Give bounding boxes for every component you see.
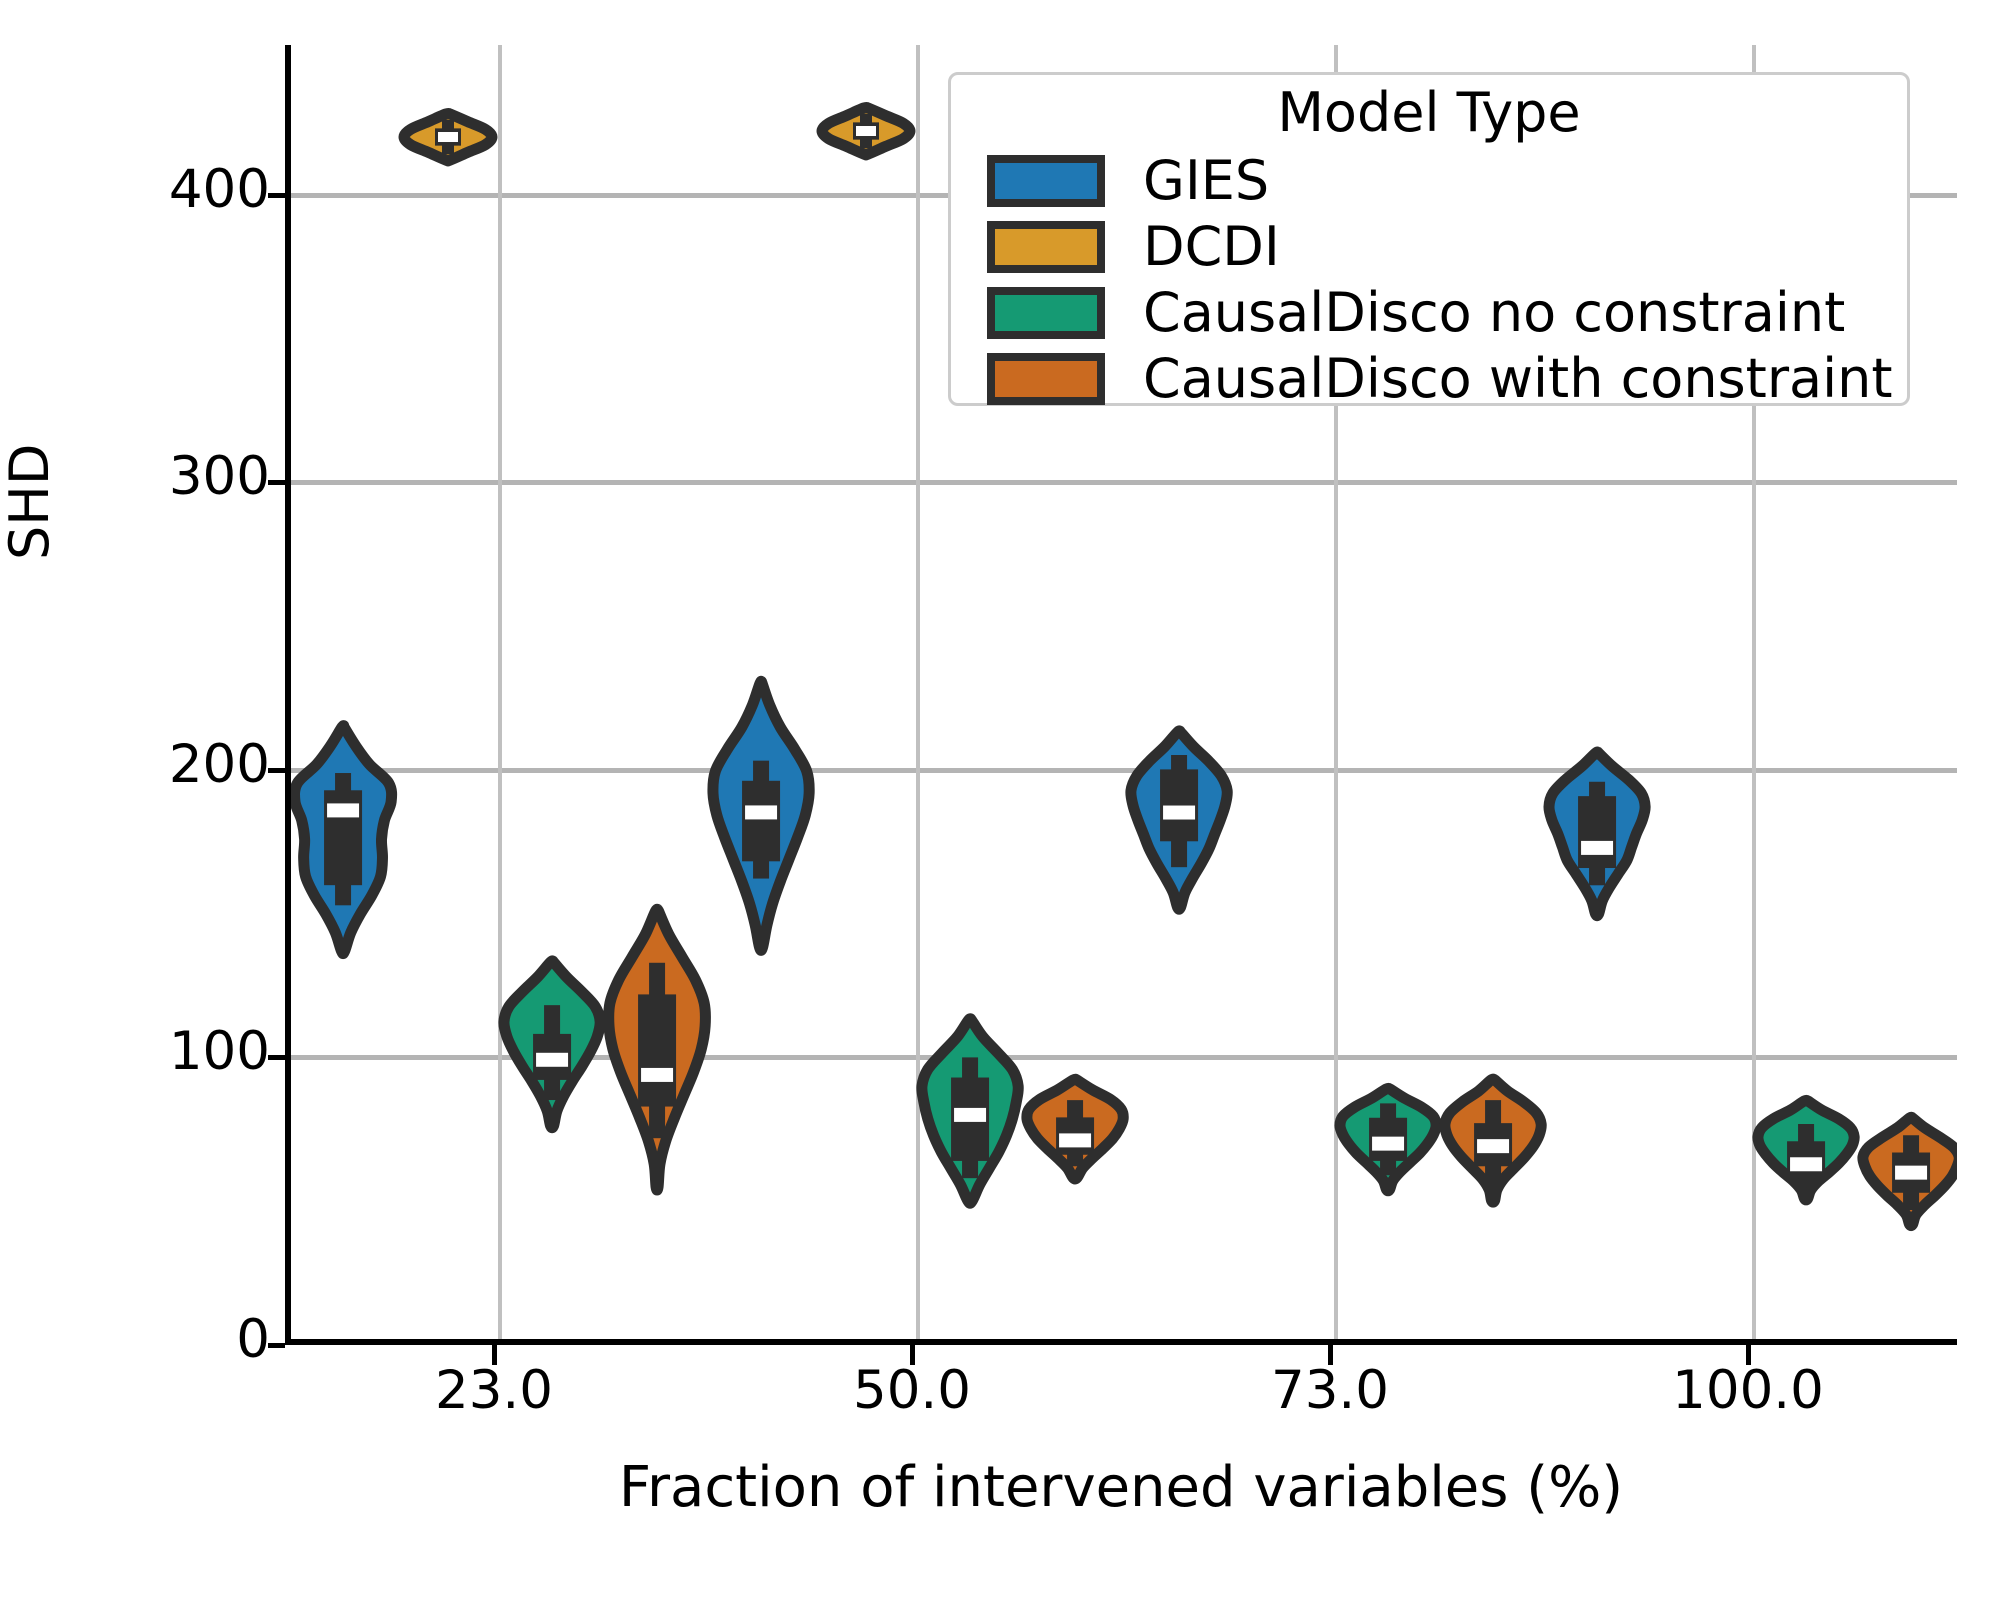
legend-entry[interactable]: DCDI bbox=[987, 219, 1280, 275]
boxplot-median-marker bbox=[327, 803, 359, 817]
y-tick-mark bbox=[268, 768, 285, 773]
boxplot-iqr-box bbox=[1160, 770, 1198, 842]
legend-entry[interactable]: CausalDisco no constraint bbox=[987, 285, 1845, 341]
violin-gies-73-0 bbox=[1115, 716, 1243, 923]
boxplot-iqr-box bbox=[1578, 796, 1616, 868]
boxplot-median-marker bbox=[1790, 1157, 1822, 1171]
boxplot-median-marker bbox=[856, 126, 876, 136]
boxplot-median-marker bbox=[1581, 840, 1613, 854]
y-tick-label: 100 bbox=[0, 1021, 296, 1082]
boxplot-median-marker bbox=[954, 1108, 986, 1122]
x-tick-mark bbox=[910, 1345, 915, 1365]
boxplot-iqr-box bbox=[638, 994, 676, 1106]
legend-entry[interactable]: CausalDisco with constraint bbox=[987, 351, 1893, 407]
boxplot-median-marker bbox=[1163, 806, 1195, 820]
violin-dcdi-23-0 bbox=[388, 98, 508, 176]
violin-causaldisco-with-constraint-100-0 bbox=[1847, 1102, 1957, 1240]
violin-gies-23-0 bbox=[291, 711, 407, 967]
gridline-vertical bbox=[498, 45, 502, 1339]
y-tick-label: 200 bbox=[0, 734, 296, 795]
legend-title: Model Type bbox=[951, 81, 1907, 144]
x-tick-mark bbox=[1746, 1345, 1751, 1365]
y-tick-mark bbox=[268, 1055, 285, 1060]
x-tick-label: 100.0 bbox=[1618, 1360, 1878, 1421]
figure-root: { "figure": { "ylabel": "SHD", "xlabel":… bbox=[0, 0, 2000, 1600]
legend-entry[interactable]: GIES bbox=[987, 153, 1269, 209]
violin-causaldisco-with-constraint-73-0 bbox=[1429, 1064, 1557, 1217]
y-tick-mark bbox=[268, 1343, 285, 1348]
violin-causaldisco-with-constraint-23-0 bbox=[593, 895, 721, 1203]
x-tick-label: 50.0 bbox=[782, 1360, 1042, 1421]
legend-swatch-icon bbox=[987, 287, 1105, 339]
x-tick-mark bbox=[1328, 1345, 1333, 1365]
x-tick-label: 73.0 bbox=[1200, 1360, 1460, 1421]
x-tick-label: 23.0 bbox=[364, 1360, 624, 1421]
boxplot-median-marker bbox=[745, 806, 777, 820]
boxplot-median-marker bbox=[1372, 1137, 1404, 1151]
violin-gies-100-0 bbox=[1533, 737, 1661, 930]
boxplot-median-marker bbox=[438, 132, 458, 142]
gridline-horizontal bbox=[291, 480, 1957, 485]
x-axis-label: Fraction of intervened variables (%) bbox=[285, 1455, 1957, 1520]
boxplot-iqr-box bbox=[742, 781, 780, 862]
y-tick-label: 300 bbox=[0, 446, 296, 507]
legend-entry-label: CausalDisco no constraint bbox=[1143, 286, 1845, 340]
violin-dcdi-50-0 bbox=[806, 92, 926, 170]
y-tick-label: 0 bbox=[0, 1309, 296, 1370]
legend-entry-label: CausalDisco with constraint bbox=[1143, 352, 1893, 406]
boxplot-median-marker bbox=[1059, 1134, 1091, 1148]
legend: Model Type GIESDCDICausalDisco no constr… bbox=[948, 72, 1910, 406]
y-tick-mark bbox=[268, 193, 285, 198]
violin-causaldisco-with-constraint-50-0 bbox=[1011, 1064, 1139, 1194]
legend-swatch-icon bbox=[987, 221, 1105, 273]
legend-entry-label: GIES bbox=[1143, 154, 1269, 208]
y-tick-mark bbox=[268, 480, 285, 485]
legend-entry-label: DCDI bbox=[1143, 220, 1280, 274]
boxplot-median-marker bbox=[1477, 1140, 1509, 1154]
legend-swatch-icon bbox=[987, 353, 1105, 405]
boxplot-median-marker bbox=[1895, 1165, 1927, 1179]
boxplot-median-marker bbox=[641, 1068, 673, 1082]
y-tick-label: 400 bbox=[0, 159, 296, 220]
legend-swatch-icon bbox=[987, 155, 1105, 207]
boxplot-median-marker bbox=[536, 1053, 568, 1067]
x-tick-mark bbox=[492, 1345, 497, 1365]
